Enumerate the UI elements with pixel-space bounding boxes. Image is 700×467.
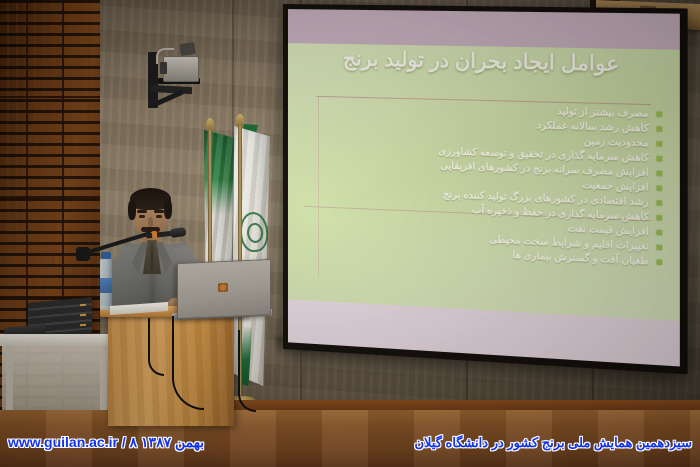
slide-bullet-text: مصرف بیشتر از تولید [557,106,649,120]
bullet-marker-icon [657,126,663,131]
bullet-marker-icon [657,215,663,221]
slide-bullet-text: افزایش قیمت نفت [568,223,649,238]
lecture-hall-room: عوامل ایجاد بحران در تولید برنج مصرف بیش… [0,0,700,467]
bullet-marker-icon [657,200,663,205]
bullet-marker-icon [657,156,663,161]
slide-bullet-text: طغیان آفت و گسترش بیماری ها [512,250,648,268]
projection-screen: عوامل ایجاد بحران در تولید برنج مصرف بیش… [283,4,688,374]
cable [172,316,204,410]
photograph-conference-presentation: عوامل ایجاد بحران در تولید برنج مصرف بیش… [0,0,700,467]
bullet-marker-icon [657,186,663,191]
bullet-marker-icon [657,230,663,236]
microphone-band [152,231,158,238]
camera-top-module [179,42,196,56]
laptop-logo-icon [218,283,228,292]
wooden-podium [108,313,234,426]
slide-bullet-text: کاهش رشد سالانه عملکرد [537,120,649,135]
bullet-marker-icon [657,141,663,146]
bullet-marker-icon [657,112,663,117]
wooden-floor [0,410,700,467]
projected-slide: عوامل ایجاد بحران در تولید برنج مصرف بیش… [288,9,680,366]
bottle-cap [101,252,111,259]
camera-cable [156,48,174,64]
cable [238,330,256,412]
side-table-body [2,346,114,410]
bullet-marker-icon [657,171,663,176]
slide-bullet-text: افزایش جمعیت [582,180,648,194]
bullet-marker-icon [657,259,663,265]
table-leg [6,346,13,410]
side-table-top [0,334,118,346]
bullet-marker-icon [657,245,663,251]
bottle-label [100,278,112,293]
slide-bullet-text: محدودیت زمین [584,136,649,150]
slide-bullet-list: مصرف بیشتر از تولیدکاهش رشد سالانه عملکر… [304,100,662,272]
cable [148,318,164,376]
table-leg [100,346,107,410]
